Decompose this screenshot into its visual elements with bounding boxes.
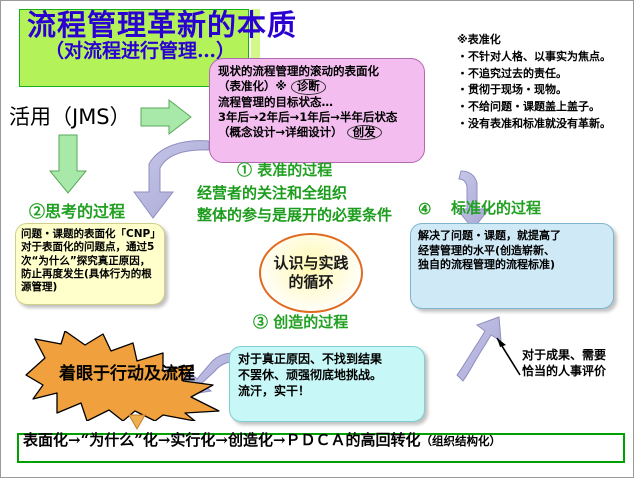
cyan-line-1: 对于真正原因、不找到结果 xyxy=(238,352,419,368)
pink-line-2: （表准化）※ 诊断 xyxy=(218,79,418,94)
step-4-label: 标准化的过程 xyxy=(451,197,541,218)
center-sentence-line-1: 经营者的关注和全组织 xyxy=(197,183,449,205)
jms-label: 活用（JMS） xyxy=(9,101,131,131)
right-list-item: ・不追究过去的责任。 xyxy=(457,66,634,83)
curved-arrow-icon-bottom-right xyxy=(457,317,501,381)
right-note-line-1: 对于成果、需要 xyxy=(522,347,634,363)
pink-tag-creation: 创发 xyxy=(347,125,382,140)
slide-canvas: 流程管理革新的本质 （对流程进行管理…） 活用（JMS） 现状的流程管理的滚动的… xyxy=(0,0,634,478)
yellow-line-3: 次“为什么”探究真正原因， xyxy=(21,255,160,268)
yellow-line-4: 防止再度发生(具体行为的根 xyxy=(21,268,160,281)
pink-line-2-text: （表准化）※ xyxy=(218,79,287,93)
current-state-pink-box: 现状的流程管理的滚动的表面化 （表准化）※ 诊断 流程管理的目标状态… 3年后→… xyxy=(209,58,425,163)
creation-process-cyan-box: 对于真正原因、不找到结果 不罢休、顽强彻底地挑战。 流汗，实干！ xyxy=(229,346,425,422)
right-list-item: ・不针对人格、以事实为焦点。 xyxy=(457,49,634,66)
starburst-shape xyxy=(23,331,235,421)
cycle-circle-line-1: 认识与实践 xyxy=(273,254,348,274)
yellow-line-1: 问题・课题的表面化「CNP」 xyxy=(21,228,160,241)
step-3-label: ③ 创造的过程 xyxy=(253,311,348,332)
standardization-note-list: ※表准化 ・不针对人格、以事实为焦点。 ・不追究过去的责任。 ・贯彻于现场・现物… xyxy=(457,32,634,133)
blue-line-3: 独自的流程管理的流程标准) xyxy=(418,258,608,273)
right-list-item: ・贯彻于现场・现物。 xyxy=(457,82,634,99)
green-down-arrow-icon xyxy=(50,135,86,193)
right-note-line-2: 恰当的人事评价 xyxy=(522,363,634,379)
cycle-circle-line-2: 的循环 xyxy=(288,273,333,293)
right-list-item: ・不给问题・课题盖上盖子。 xyxy=(457,99,634,116)
right-list-item: ・没有表准和标准就没有革新。 xyxy=(457,116,634,133)
pink-line-5: （概念设计→详细设计） 创发 xyxy=(218,125,418,140)
cycle-circle: 认识与实践 的循环 xyxy=(259,233,363,313)
thinking-process-yellow-box: 问题・课题的表面化「CNP」 对于表面化的问题点，通过5 次“为什么”探究真正原… xyxy=(15,223,165,305)
page-title: 流程管理革新的本质 （对流程进行管理…） xyxy=(27,11,277,61)
bottom-summary-text: 表面化→“为什么”化→实行化→创造化→ＰＤＣＡ的高回转化（组织结构化） xyxy=(23,429,629,450)
right-list-heading: ※表准化 xyxy=(457,32,634,49)
yellow-line-2: 对于表面化的问题点，通过5 xyxy=(21,241,160,254)
blue-line-2: 经营管理的水平(创造崭新、 xyxy=(418,244,608,259)
pink-line-1: 现状的流程管理的滚动的表面化 xyxy=(218,64,418,79)
cyan-line-2: 不罢休、顽强彻底地挑战。 xyxy=(238,368,419,384)
pointer-arrow-icon-right-note xyxy=(497,338,520,375)
blue-line-1: 解决了问题・课题，就提高了 xyxy=(418,229,608,244)
step-1-label: ① 表准的过程 xyxy=(237,159,332,180)
pink-tag-diagnosis: 诊断 xyxy=(291,79,326,94)
standardization-blue-box: 解决了问题・课题，就提高了 经营管理的水平(创造崭新、 独自的流程管理的流程标准… xyxy=(410,223,614,309)
green-right-arrow-icon xyxy=(141,100,191,134)
title-main-text: 流程管理革新的本质 xyxy=(27,11,277,40)
step-2-label: ②思考的过程 xyxy=(29,198,125,222)
yellow-line-5: 源管理) xyxy=(21,281,160,294)
center-sentence-line-2: 整体的参与是展开的必要条件 xyxy=(197,205,449,227)
pink-line-4: 3年后→2年后→1年后→半年后状态 xyxy=(218,110,418,125)
pink-line-3: 流程管理的目标状态… xyxy=(218,95,418,110)
center-sentence: 经营者的关注和全组织 整体的参与是展开的必要条件 xyxy=(197,183,449,227)
evaluation-note: 对于成果、需要 恰当的人事评价 xyxy=(522,347,634,379)
pink-line-5-text: （概念设计→详细设计） xyxy=(218,125,343,139)
bottom-summary-suffix: （组织结构化） xyxy=(421,434,502,448)
cyan-line-3: 流汗，实干！ xyxy=(238,384,419,400)
bottom-summary-main: 表面化→“为什么”化→实行化→创造化→ＰＤＣＡ的高回转化 xyxy=(23,431,421,449)
